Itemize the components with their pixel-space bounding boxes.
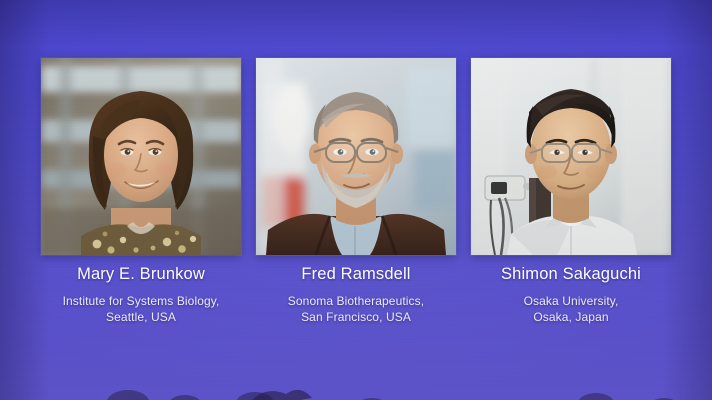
affiliation-line-2: Seattle, USA (41, 309, 241, 325)
affiliation-line-2: Osaka, Japan (471, 309, 671, 325)
laureate-card: Mary E. Brunkow Institute for Systems Bi… (41, 58, 241, 325)
laureate-affiliation: Osaka University, Osaka, Japan (471, 293, 671, 325)
laureate-affiliation: Sonoma Biotherapeutics, San Francisco, U… (256, 293, 456, 325)
presentation-slide: Mary E. Brunkow Institute for Systems Bi… (0, 0, 712, 400)
laureate-name: Shimon Sakaguchi (471, 265, 671, 284)
affiliation-line-1: Institute for Systems Biology, (41, 293, 241, 309)
affiliation-line-2: San Francisco, USA (256, 309, 456, 325)
affiliation-line-1: Sonoma Biotherapeutics, (256, 293, 456, 309)
laureate-card: Shimon Sakaguchi Osaka University, Osaka… (471, 58, 671, 325)
laureate-photo (471, 58, 671, 255)
laureate-card: Fred Ramsdell Sonoma Biotherapeutics, Sa… (256, 58, 456, 325)
portrait-fred-ramsdell-image (256, 58, 456, 255)
laureate-name: Mary E. Brunkow (41, 265, 241, 284)
portrait-mary-brunkow-image (41, 58, 241, 255)
portrait-shimon-sakaguchi-image (471, 58, 671, 255)
laureate-photo (41, 58, 241, 255)
laureate-name: Fred Ramsdell (256, 265, 456, 284)
laureate-affiliation: Institute for Systems Biology, Seattle, … (41, 293, 241, 325)
laureate-photo (256, 58, 456, 255)
affiliation-line-1: Osaka University, (471, 293, 671, 309)
laureate-row: Mary E. Brunkow Institute for Systems Bi… (0, 0, 712, 400)
